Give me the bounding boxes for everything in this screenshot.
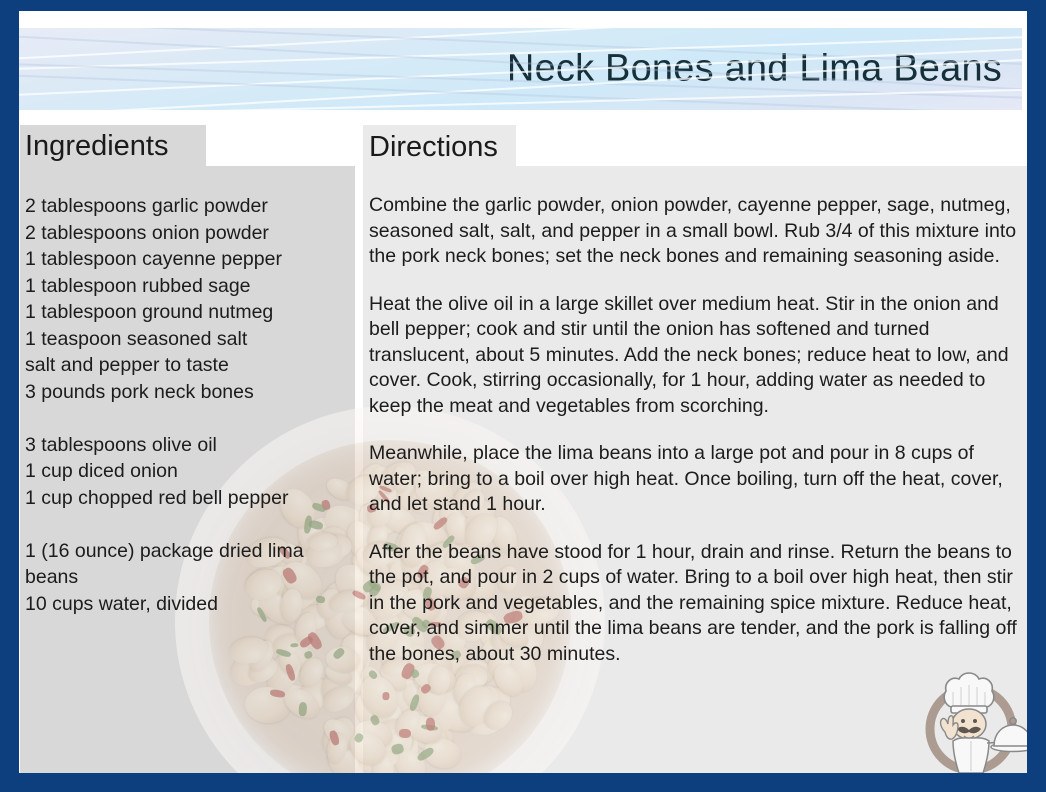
directions-body: Combine the garlic powder, onion powder,… bbox=[369, 193, 1021, 689]
ingredient-item: 3 pounds pork neck bones bbox=[25, 379, 345, 406]
ingredient-item: 1 tablespoon ground nutmeg bbox=[25, 299, 345, 326]
ingredient-group-spacer bbox=[25, 405, 345, 432]
ingredients-heading: Ingredients bbox=[25, 130, 169, 163]
ingredient-item: 2 tablespoons garlic powder bbox=[25, 193, 345, 220]
recipe-card-frame: Ingredients 2 tablespoons garlic powder2… bbox=[0, 0, 1046, 792]
ingredient-item: 2 tablespoons onion powder bbox=[25, 220, 345, 247]
ingredient-item: salt and pepper to taste bbox=[25, 352, 345, 379]
direction-paragraph: Heat the olive oil in a large skillet ov… bbox=[369, 292, 1021, 420]
ingredient-item: 1 cup diced onion bbox=[25, 458, 345, 485]
ingredient-item: 1 tablespoon rubbed sage bbox=[25, 273, 345, 300]
ingredients-list: 2 tablespoons garlic powder2 tablespoons… bbox=[25, 193, 345, 617]
direction-paragraph: Meanwhile, place the lima beans into a l… bbox=[369, 441, 1021, 518]
title-banner: Neck Bones and Lima Beans bbox=[19, 28, 1022, 110]
ingredient-item: 10 cups water, divided bbox=[25, 591, 345, 618]
directions-heading: Directions bbox=[369, 131, 498, 164]
ingredient-item: 3 tablespoons olive oil bbox=[25, 432, 345, 459]
ingredient-item: 1 cup chopped red bell pepper bbox=[25, 485, 345, 512]
ingredient-group-spacer bbox=[25, 511, 345, 538]
direction-paragraph: Combine the garlic powder, onion powder,… bbox=[369, 193, 1021, 270]
direction-paragraph: After the beans have stood for 1 hour, d… bbox=[369, 540, 1021, 668]
ingredient-item: 1 (16 ounce) package dried lima beans bbox=[25, 538, 345, 591]
ingredient-item: 1 teaspoon seasoned salt bbox=[25, 326, 345, 353]
ingredient-item: 1 tablespoon cayenne pepper bbox=[25, 246, 345, 273]
recipe-page: Ingredients 2 tablespoons garlic powder2… bbox=[19, 11, 1027, 773]
